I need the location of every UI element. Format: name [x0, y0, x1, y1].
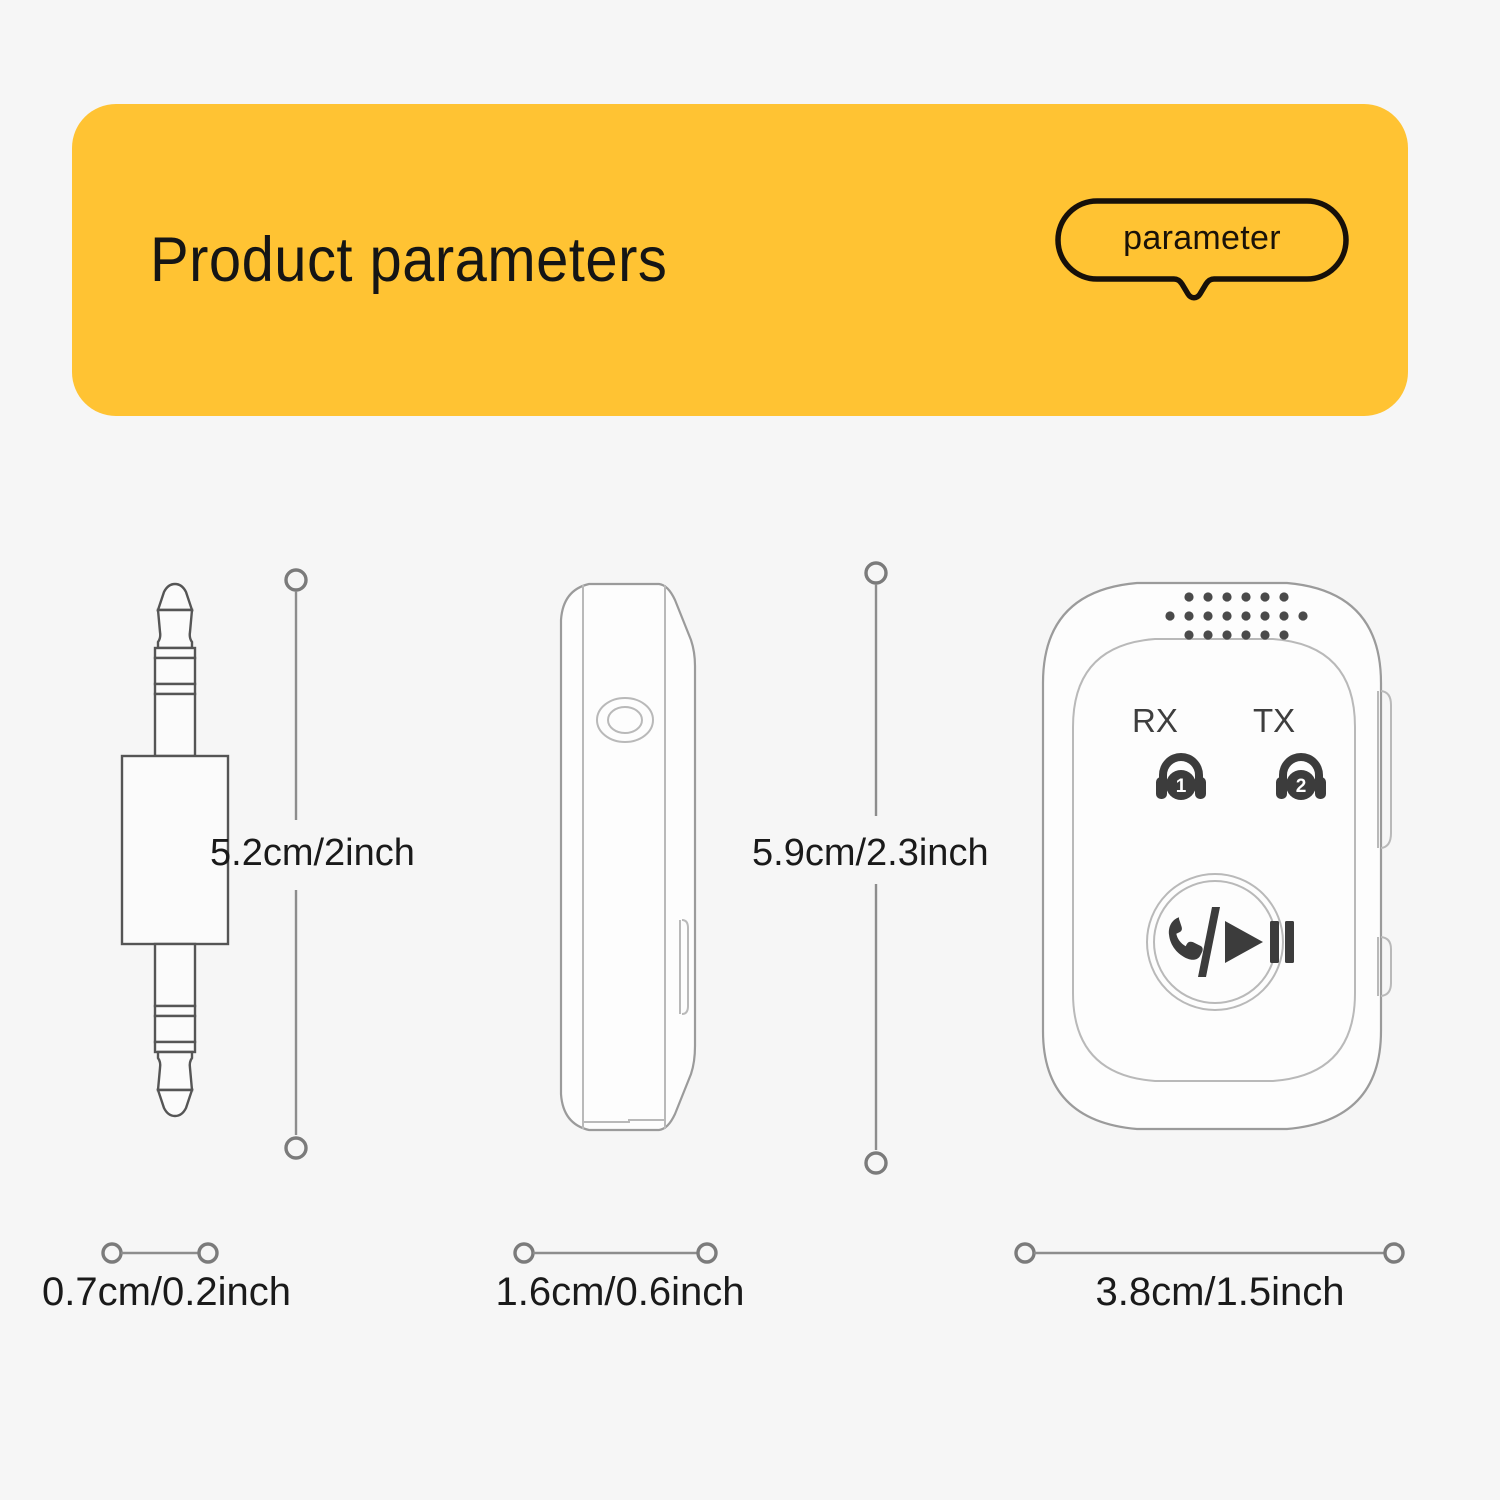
- device-height-label: 5.9cm/2.3inch: [752, 832, 989, 875]
- device-side-figure: [525, 568, 725, 1148]
- device-depth-label: 1.6cm/0.6inch: [485, 1270, 755, 1315]
- speech-bubble-shape: [1052, 195, 1352, 325]
- jack-width-dimension: [100, 1238, 230, 1268]
- device-side-drawing: [525, 568, 725, 1148]
- svg-text:1: 1: [1176, 776, 1187, 797]
- product-parameters-banner: Product parameters parameter: [72, 104, 1408, 416]
- jack-width-label: 0.7cm/0.2inch: [24, 1270, 309, 1315]
- device-depth-dimension-line: [512, 1238, 727, 1268]
- rx-label: RX: [1132, 702, 1178, 740]
- parameter-badge-label: parameter: [1052, 219, 1352, 258]
- device-depth-dimension: [512, 1238, 727, 1268]
- device-width-dimension-line: [1013, 1238, 1413, 1268]
- jack-height-label: 5.2cm/2inch: [210, 832, 415, 875]
- svg-text:2: 2: [1296, 776, 1307, 797]
- device-width-label: 3.8cm/1.5inch: [1085, 1270, 1355, 1315]
- device-front-figure: 1 2: [1025, 565, 1425, 1145]
- parameter-badge: parameter: [1052, 195, 1352, 325]
- device-width-dimension: [1013, 1238, 1413, 1268]
- jack-width-dimension-line: [100, 1238, 230, 1268]
- device-front-drawing: 1 2: [1025, 565, 1425, 1145]
- page-title: Product parameters: [150, 224, 667, 296]
- tx-label: TX: [1253, 702, 1295, 740]
